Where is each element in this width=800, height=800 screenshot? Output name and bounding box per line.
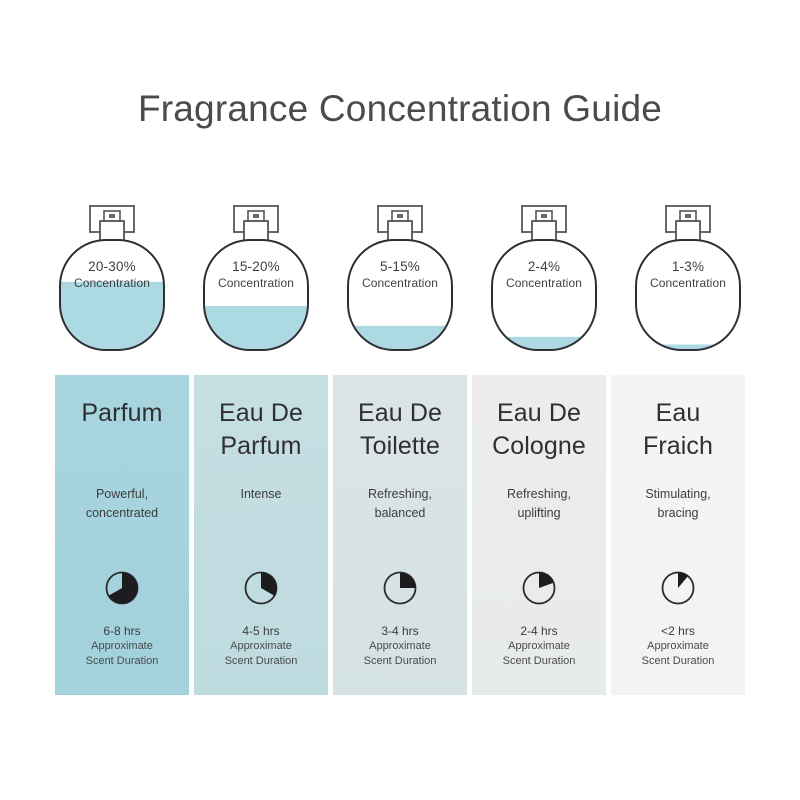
bottle-graphic bbox=[199, 198, 313, 358]
bottle-row: 20-30%Concentration15-20%Concentration5-… bbox=[55, 198, 745, 358]
duration-hours: 2-4 hrs bbox=[472, 623, 606, 639]
card-title: Eau DeCologne bbox=[472, 397, 606, 463]
duration-hours: <2 hrs bbox=[611, 623, 745, 639]
card-description-line2: bracing bbox=[611, 504, 745, 523]
card-title-line1: Eau bbox=[611, 397, 745, 430]
duration-caption-line1: Approximate bbox=[333, 639, 467, 654]
card-description-line1: Refreshing, bbox=[472, 485, 606, 504]
card-description: Refreshing,balanced bbox=[333, 485, 467, 523]
infographic-page: Fragrance Concentration Guide 20-30%Conc… bbox=[0, 0, 800, 800]
sprayer-nozzle-icon bbox=[685, 214, 691, 218]
duration-caption-line2: Scent Duration bbox=[611, 654, 745, 669]
card-title-line1: Eau De bbox=[194, 397, 328, 430]
card-duration: 6-8 hrsApproximateScent Duration bbox=[55, 623, 189, 669]
duration-caption-line2: Scent Duration bbox=[472, 654, 606, 669]
card-description: Powerful,concentrated bbox=[55, 485, 189, 523]
duration-caption-line2: Scent Duration bbox=[194, 654, 328, 669]
clock-icon bbox=[521, 570, 557, 606]
bottle-2: 15-20%Concentration bbox=[199, 198, 313, 358]
clock-icon bbox=[660, 570, 696, 606]
bottle-3: 5-15%Concentration bbox=[343, 198, 457, 358]
card-title: Eau DeToilette bbox=[333, 397, 467, 463]
duration-icon-wrap bbox=[194, 570, 328, 606]
clock-icon bbox=[382, 570, 418, 606]
duration-hours: 6-8 hrs bbox=[55, 623, 189, 639]
card-description: Stimulating,bracing bbox=[611, 485, 745, 523]
card-description-line1: Refreshing, bbox=[333, 485, 467, 504]
duration-icon-wrap bbox=[611, 570, 745, 606]
card-title-line2: Cologne bbox=[472, 430, 606, 463]
card-title-line1: Eau De bbox=[333, 397, 467, 430]
card-1[interactable]: ParfumPowerful,concentrated6-8 hrsApprox… bbox=[55, 375, 189, 695]
duration-icon-wrap bbox=[55, 570, 189, 606]
sprayer-nozzle-icon bbox=[109, 214, 115, 218]
card-description-line1: Intense bbox=[194, 485, 328, 504]
duration-caption-line2: Scent Duration bbox=[333, 654, 467, 669]
clock-wedge bbox=[400, 573, 416, 589]
bottle-liquid-level bbox=[204, 306, 308, 350]
duration-caption-line2: Scent Duration bbox=[55, 654, 189, 669]
card-description: Intense bbox=[194, 485, 328, 504]
sprayer-nozzle-icon bbox=[253, 214, 259, 218]
card-duration: 3-4 hrsApproximateScent Duration bbox=[333, 623, 467, 669]
duration-hours: 3-4 hrs bbox=[333, 623, 467, 639]
card-title-line2: Fraich bbox=[611, 430, 745, 463]
clock-wedge bbox=[539, 573, 554, 589]
bottle-graphic bbox=[55, 198, 169, 358]
bottle-body bbox=[636, 240, 740, 350]
bottle-graphic bbox=[343, 198, 457, 358]
duration-caption-line1: Approximate bbox=[472, 639, 606, 654]
card-title-line2: Parfum bbox=[194, 430, 328, 463]
bottle-5: 1-3%Concentration bbox=[631, 198, 745, 358]
bottle-graphic bbox=[631, 198, 745, 358]
card-2[interactable]: Eau DeParfumIntense4-5 hrsApproximateSce… bbox=[194, 375, 328, 695]
card-title-line2: Toilette bbox=[333, 430, 467, 463]
duration-caption-line1: Approximate bbox=[611, 639, 745, 654]
card-duration: 2-4 hrsApproximateScent Duration bbox=[472, 623, 606, 669]
card-duration: <2 hrsApproximateScent Duration bbox=[611, 623, 745, 669]
card-description-line1: Powerful, bbox=[55, 485, 189, 504]
duration-caption-line1: Approximate bbox=[194, 639, 328, 654]
card-title-line1: Eau De bbox=[472, 397, 606, 430]
card-title: Parfum bbox=[55, 397, 189, 430]
card-title-line1: Parfum bbox=[55, 397, 189, 430]
sprayer-nozzle-icon bbox=[541, 214, 547, 218]
clock-icon bbox=[104, 570, 140, 606]
bottle-1: 20-30%Concentration bbox=[55, 198, 169, 358]
card-title: EauFraich bbox=[611, 397, 745, 463]
duration-hours: 4-5 hrs bbox=[194, 623, 328, 639]
clock-icon bbox=[243, 570, 279, 606]
sprayer-nozzle-icon bbox=[397, 214, 403, 218]
card-3[interactable]: Eau DeToiletteRefreshing,balanced3-4 hrs… bbox=[333, 375, 467, 695]
bottle-body bbox=[492, 240, 596, 350]
card-4[interactable]: Eau DeCologneRefreshing,uplifting2-4 hrs… bbox=[472, 375, 606, 695]
card-5[interactable]: EauFraichStimulating,bracing<2 hrsApprox… bbox=[611, 375, 745, 695]
card-description-line2: balanced bbox=[333, 504, 467, 523]
card-description-line1: Stimulating, bbox=[611, 485, 745, 504]
card-description-line2: concentrated bbox=[55, 504, 189, 523]
duration-caption-line1: Approximate bbox=[55, 639, 189, 654]
card-description: Refreshing,uplifting bbox=[472, 485, 606, 523]
card-row: ParfumPowerful,concentrated6-8 hrsApprox… bbox=[55, 375, 745, 695]
duration-icon-wrap bbox=[472, 570, 606, 606]
card-duration: 4-5 hrsApproximateScent Duration bbox=[194, 623, 328, 669]
bottle-4: 2-4%Concentration bbox=[487, 198, 601, 358]
duration-icon-wrap bbox=[333, 570, 467, 606]
bottle-graphic bbox=[487, 198, 601, 358]
card-title: Eau DeParfum bbox=[194, 397, 328, 463]
clock-wedge bbox=[261, 573, 276, 596]
page-title: Fragrance Concentration Guide bbox=[0, 88, 800, 130]
card-description-line2: uplifting bbox=[472, 504, 606, 523]
